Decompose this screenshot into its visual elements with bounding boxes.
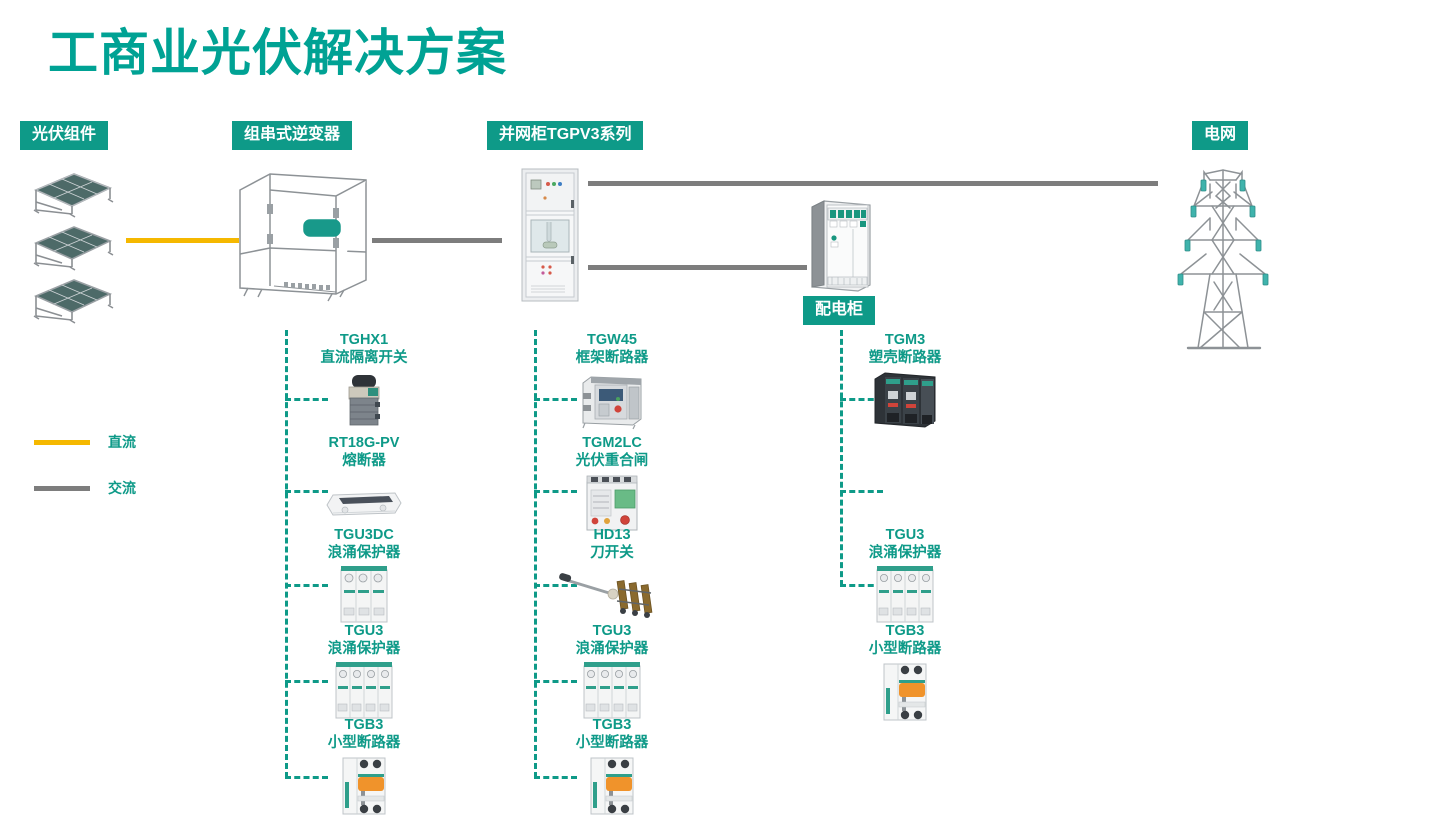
- transmission-tower-unit: [1164, 162, 1282, 358]
- component-name: 浪涌保护器: [264, 640, 464, 658]
- ac-connector-grid-cabinet-to-tower: [588, 181, 1158, 186]
- component-code: TGHX1: [264, 331, 464, 349]
- mcb-2p-icon: [264, 754, 464, 816]
- component-name: 塑壳断路器: [805, 349, 1005, 367]
- component-code: TGU3DC: [264, 526, 464, 544]
- legend-swatch-dc-icon: [34, 440, 90, 445]
- inverter-icon: [232, 168, 374, 303]
- component-code: RT18G-PV: [264, 434, 464, 452]
- component-item[interactable]: TGM2LC 光伏重合闸: [512, 434, 712, 534]
- component-code: TGB3: [805, 622, 1005, 640]
- knife-switch-icon: [512, 564, 712, 626]
- component-item[interactable]: TGW45 框架断路器: [512, 331, 712, 431]
- recloser-icon: [512, 472, 712, 534]
- component-name: 框架断路器: [512, 349, 712, 367]
- distribution-cabinet-icon: [810, 197, 872, 293]
- component-item[interactable]: TGB3 小型断路器: [805, 622, 1005, 722]
- diagram-canvas: 工商业光伏解决方案 光伏组件 组串式逆变器 并网柜TGPV3系列 配电柜 电网 …: [0, 0, 1436, 829]
- component-name: 直流隔离开关: [264, 349, 464, 367]
- legend-label-ac: 交流: [108, 478, 136, 498]
- spd-4p-icon: [805, 564, 1005, 626]
- legend-item-dc: 直流: [34, 432, 136, 452]
- branch-link-distribution-2: [840, 490, 883, 493]
- stage-label-distribution-cabinet[interactable]: 配电柜: [803, 296, 875, 325]
- mccb-icon: [805, 369, 1005, 431]
- component-name: 小型断路器: [805, 640, 1005, 658]
- component-code: TGU3: [805, 526, 1005, 544]
- component-code: TGW45: [512, 331, 712, 349]
- pv-array-group: [22, 166, 122, 326]
- stage-label-power-grid[interactable]: 电网: [1192, 121, 1248, 150]
- component-item[interactable]: TGB3 小型断路器: [264, 716, 464, 816]
- component-code: TGB3: [512, 716, 712, 734]
- transmission-tower-icon: [1164, 162, 1282, 358]
- legend-label-dc: 直流: [108, 432, 136, 452]
- legend-swatch-ac-icon: [34, 486, 90, 491]
- component-code: TGU3: [512, 622, 712, 640]
- component-item[interactable]: TGB3 小型断路器: [512, 716, 712, 816]
- distribution-cabinet-unit: [810, 197, 872, 293]
- spd-3p-icon: [264, 564, 464, 626]
- ac-connector-grid-cabinet-to-distribution: [588, 265, 807, 270]
- legend-item-ac: 交流: [34, 478, 136, 498]
- component-code: TGB3: [264, 716, 464, 734]
- component-item[interactable]: RT18G-PV 熔断器: [264, 434, 464, 534]
- component-code: TGU3: [264, 622, 464, 640]
- fuse-holder-icon: [264, 472, 464, 534]
- component-name: 浪涌保护器: [805, 544, 1005, 562]
- stage-label-pv-modules[interactable]: 光伏组件: [20, 121, 108, 150]
- component-name: 熔断器: [264, 452, 464, 470]
- component-item[interactable]: TGM3 塑壳断路器: [805, 331, 1005, 431]
- solar-panel-icon: [22, 166, 122, 326]
- component-item[interactable]: TGU3 浪涌保护器: [512, 622, 712, 722]
- component-item[interactable]: TGU3 浪涌保护器: [805, 526, 1005, 626]
- component-item[interactable]: TGU3 浪涌保护器: [264, 622, 464, 722]
- acb-icon: [512, 369, 712, 431]
- component-name: 浪涌保护器: [512, 640, 712, 658]
- component-name: 小型断路器: [512, 734, 712, 752]
- grid-cabinet-icon: [521, 168, 579, 302]
- component-code: HD13: [512, 526, 712, 544]
- grid-connection-cabinet-unit: [521, 168, 579, 302]
- string-inverter-unit: [232, 168, 374, 303]
- page-title: 工商业光伏解决方案: [48, 26, 507, 81]
- component-item[interactable]: TGHX1 直流隔离开关: [264, 331, 464, 431]
- spd-4p-icon: [264, 660, 464, 722]
- component-name: 浪涌保护器: [264, 544, 464, 562]
- mcb-2p-icon: [512, 754, 712, 816]
- mcb-2p-icon: [805, 660, 1005, 722]
- component-name: 光伏重合闸: [512, 452, 712, 470]
- dc-connector-pv-to-inverter: [126, 238, 239, 243]
- component-name: 刀开关: [512, 544, 712, 562]
- spd-4p-icon: [512, 660, 712, 722]
- stage-label-grid-cabinet[interactable]: 并网柜TGPV3系列: [487, 121, 643, 150]
- stage-label-string-inverter[interactable]: 组串式逆变器: [232, 121, 352, 150]
- component-item[interactable]: TGU3DC 浪涌保护器: [264, 526, 464, 626]
- ac-connector-inverter-to-grid-cabinet: [372, 238, 502, 243]
- component-name: 小型断路器: [264, 734, 464, 752]
- component-code: TGM2LC: [512, 434, 712, 452]
- component-item[interactable]: HD13 刀开关: [512, 526, 712, 626]
- component-code: TGM3: [805, 331, 1005, 349]
- rotary-isolator-icon: [264, 369, 464, 431]
